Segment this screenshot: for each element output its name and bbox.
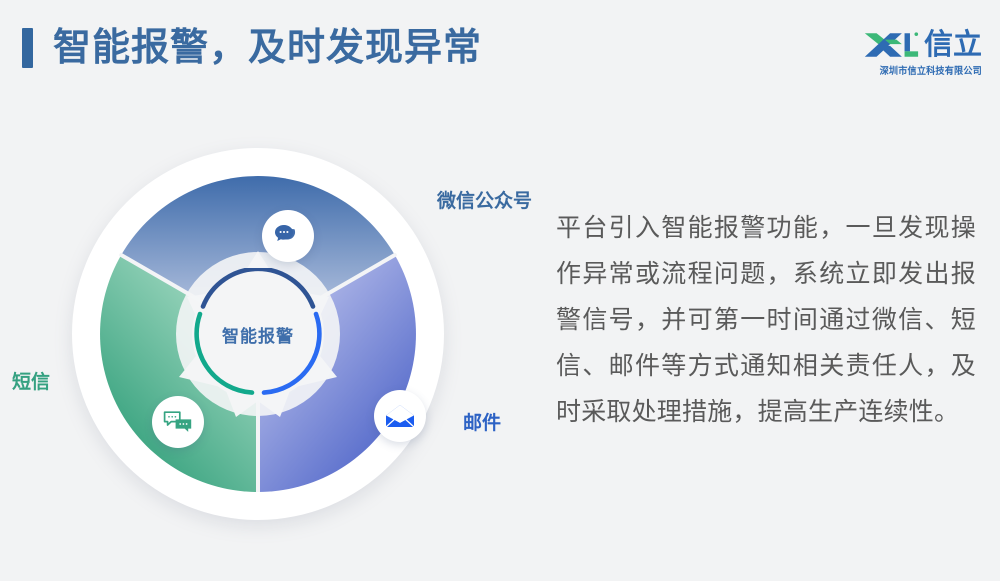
label-sms: 短信 (12, 367, 50, 394)
ring-arc-top (203, 269, 313, 307)
sms-chat-bubbles-icon (163, 410, 193, 434)
label-wechat: 微信公众号 (437, 186, 532, 213)
logo-main-row: 信立 (832, 26, 982, 60)
ring-arc-left (197, 314, 252, 393)
page-header: 智能报警，及时发现异常 信立 深圳市信立科技有限公司 (0, 0, 1000, 108)
logo-company-text: 深圳市信立科技有限公司 (838, 63, 982, 77)
wechat-chat-bubbles-icon (274, 223, 302, 249)
ring-arc-right (264, 314, 319, 393)
logo-brand-text: 信立 (924, 31, 982, 60)
envelope-icon (385, 403, 415, 429)
xl-logo-mark-icon (863, 30, 919, 60)
wechat-icon-bubble[interactable] (262, 210, 314, 262)
diagram-wheel: 智能报警 (100, 176, 416, 492)
mail-icon-bubble[interactable] (374, 390, 426, 442)
center-progress-ring (192, 268, 324, 400)
company-logo: 信立 深圳市信立科技有限公司 (832, 26, 982, 77)
description-paragraph: 平台引入智能报警功能，一旦发现操作异常或流程问题，系统立即发出报警信号，并可第一… (556, 205, 976, 435)
label-mail: 邮件 (463, 408, 501, 435)
sms-icon-bubble[interactable] (152, 396, 204, 448)
title-accent-bar (22, 28, 33, 68)
page-title: 智能报警，及时发现异常 (53, 29, 482, 67)
alarm-channel-diagram: 智能报警 (72, 148, 444, 520)
page-title-wrap: 智能报警，及时发现异常 (22, 28, 482, 68)
